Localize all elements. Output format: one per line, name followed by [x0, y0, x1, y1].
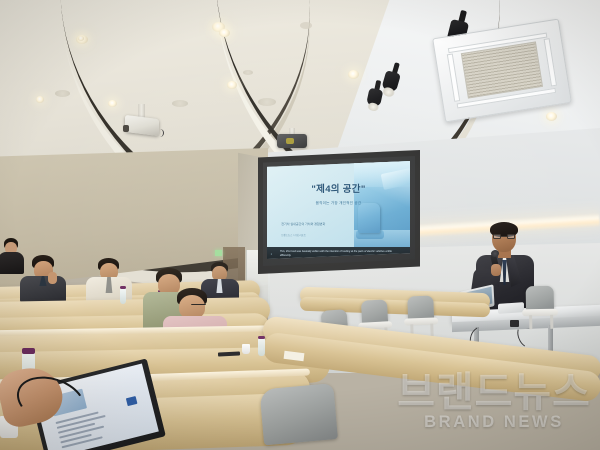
audience-person-white-shirt: [86, 258, 134, 302]
ceiling-vent-dot: [243, 70, 253, 75]
projector-body: [125, 115, 159, 136]
photo-scene: "제4의 공간" 움직이는 가장 개인적인 공간 전기차 실내공간의 가치와 경…: [0, 0, 600, 450]
exit-sign-icon: [215, 250, 222, 256]
presentation-slide: "제4의 공간" 움직이는 가장 개인적인 공간 전기차 실내공간의 가치와 경…: [267, 161, 410, 259]
water-bottle[interactable]: [258, 338, 265, 356]
ceiling-projector-left: [122, 104, 162, 138]
person-hand-to-chin: [48, 272, 57, 284]
eyeglasses-icon: [493, 234, 515, 239]
slide-meta-line-2: 브랜드뉴스 / 기획 리포트: [281, 233, 367, 237]
smoke-detector-icon: [300, 22, 312, 29]
ceiling-downlight: [78, 36, 84, 41]
car-seat-shape: [358, 203, 380, 233]
water-bottle[interactable]: [120, 288, 126, 304]
chair-leg: [529, 315, 532, 329]
slide-meta-line: 전기차 실내공간의 가치와 경험변화: [281, 222, 381, 227]
ceiling-downlight: [108, 100, 117, 107]
podium-connector-box: [510, 320, 519, 327]
bottle-cap: [22, 348, 35, 354]
paper-cup[interactable]: [242, 344, 250, 354]
slide-subtitle: 움직이는 가장 개인적인 공간: [278, 201, 398, 206]
ceiling-downlight: [227, 81, 237, 89]
ceiling-downlight: [546, 112, 557, 121]
slide-page-number: 1: [271, 253, 272, 256]
chair-foreground[interactable]: [259, 383, 344, 450]
ceiling-downlight: [219, 29, 230, 37]
chair-leg: [550, 315, 553, 329]
ceiling-vent-dot: [258, 98, 276, 106]
chair-leg: [430, 324, 433, 337]
slide-title: "제4의 공간": [278, 185, 398, 195]
audience-person-left-blazer: [18, 255, 70, 301]
ceiling-vent-dot: [55, 90, 70, 97]
chair[interactable]: [522, 286, 559, 331]
glasses-bridge: [501, 236, 507, 237]
podium-control-panel[interactable]: [498, 302, 524, 314]
projector-lens: [286, 138, 294, 144]
ceiling-downlight: [36, 96, 44, 103]
eyeglasses-icon: [191, 304, 206, 309]
projector-cable: [156, 129, 164, 137]
chair-backrest: [259, 383, 338, 445]
presenter-hand: [491, 264, 501, 276]
bottle-cap: [120, 286, 126, 289]
laptop-screen-accent: [126, 396, 138, 406]
glasses-lens-right: [507, 234, 515, 239]
ceiling-downlight: [348, 70, 359, 79]
watermark-english: BRAND NEWS: [396, 413, 592, 432]
bottle-cap: [258, 336, 265, 339]
projector-lens: [123, 125, 129, 132]
ceiling-vent-dot: [172, 100, 188, 107]
glasses-lens-left: [493, 234, 501, 239]
